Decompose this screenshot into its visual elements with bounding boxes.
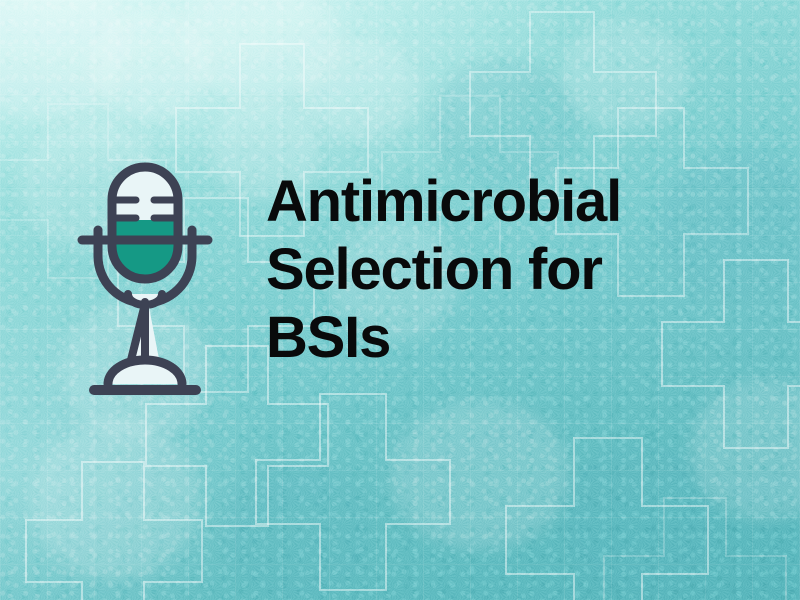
microphone-icon bbox=[72, 152, 218, 400]
cover-content: Antimicrobial Selection for BSIs bbox=[0, 0, 800, 600]
page-title: Antimicrobial Selection for BSIs bbox=[266, 168, 736, 372]
podcast-cover-art: Antimicrobial Selection for BSIs bbox=[0, 0, 800, 600]
